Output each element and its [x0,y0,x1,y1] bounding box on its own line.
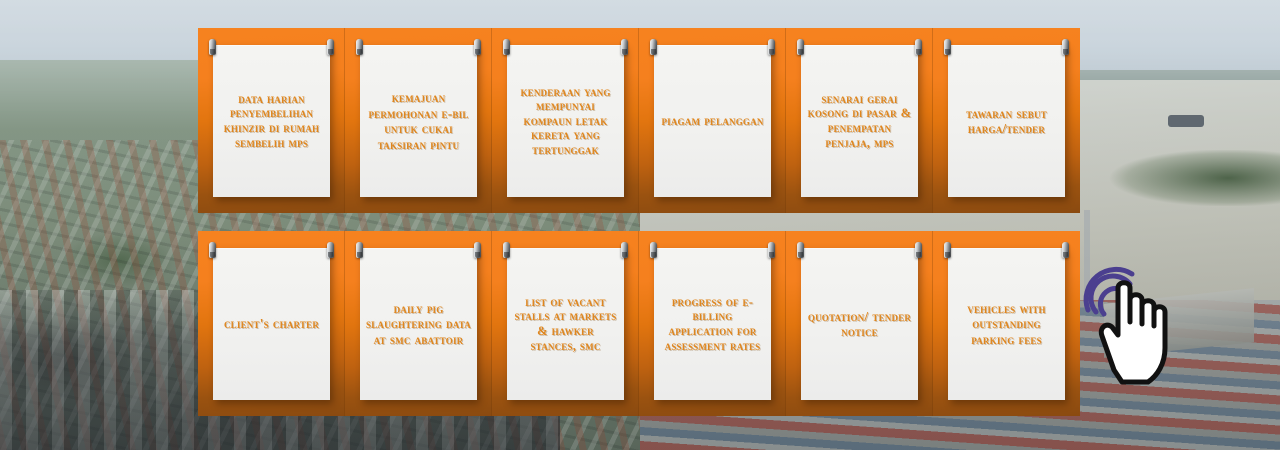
paper-clip-icon-left [356,242,363,258]
service-tile-vehicles-outstanding-parking-fees[interactable]: Vehicles With Outstanding Parking Fees [933,231,1080,416]
service-tile-data-harian-penyembelihan[interactable]: Data Harian Penyembelihan Khinzir Di Rum… [198,28,345,213]
service-tile-clients-charter[interactable]: Client's Charter [198,231,345,416]
service-tile-kenderaan-kompaun-letak-kereta[interactable]: Kenderaan Yang Mempunyai Kompaun Letak K… [492,28,639,213]
service-tile-senarai-gerai-kosong[interactable]: Senarai Gerai Kosong di Pasar & Penempat… [786,28,933,213]
service-tile-list-of-vacant-stalls[interactable]: List Of Vacant Stalls At Markets & Hawke… [492,231,639,416]
paper-clip-icon-right [621,39,628,55]
paper-clip-icon-left [503,242,510,258]
paper-clip-icon-right [327,242,334,258]
paper-clip-icon-left [503,39,510,55]
service-tile-quotation-tender-notice[interactable]: Quotation/ Tender Notice [786,231,933,416]
paper-clip-icon-right [327,39,334,55]
paper-clip-icon-right [915,242,922,258]
tile-paper-card[interactable]: Client's Charter [213,248,330,400]
background-crane [1084,210,1090,290]
tile-paper-card[interactable]: Daily Pig Slaughtering Data At SMC Abatt… [360,248,477,400]
paper-clip-icon-right [1062,39,1069,55]
service-tile-daily-pig-slaughtering-data[interactable]: Daily Pig Slaughtering Data At SMC Abatt… [345,231,492,416]
service-tile-piagam-pelanggan[interactable]: Piagam Pelanggan [639,28,786,213]
service-tile-tawaran-sebut-harga-tender[interactable]: Tawaran Sebut Harga/Tender [933,28,1080,213]
tile-paper-card[interactable]: Progress Of e-Billing Application For As… [654,248,771,400]
paper-clip-icon-left [209,39,216,55]
paper-clip-icon-right [621,242,628,258]
tile-paper-card[interactable]: Quotation/ Tender Notice [801,248,918,400]
tile-paper-card[interactable]: Senarai Gerai Kosong di Pasar & Penempat… [801,45,918,197]
tile-label: Progress Of e-Billing Application For As… [660,295,765,353]
paper-clip-icon-right [915,39,922,55]
tile-paper-card[interactable]: Kenderaan Yang Mempunyai Kompaun Letak K… [507,45,624,197]
background-headland [1078,150,1280,206]
paper-clip-icon-left [650,242,657,258]
paper-clip-icon-left [944,242,951,258]
paper-clip-icon-left [356,39,363,55]
tile-label: Senarai Gerai Kosong di Pasar & Penempat… [807,92,912,150]
tile-label: List Of Vacant Stalls At Markets & Hawke… [513,295,618,353]
tile-label: Client's Charter [224,316,319,332]
paper-clip-icon-left [209,242,216,258]
tile-paper-card[interactable]: Kemajuan Permohonan e-Bil Untuk Cukai Ta… [360,45,477,197]
tile-label: Kemajuan Permohonan e-Bil Untuk Cukai Ta… [366,90,471,152]
service-tile-progress-e-billing-assessment[interactable]: Progress Of e-Billing Application For As… [639,231,786,416]
tile-paper-card[interactable]: List Of Vacant Stalls At Markets & Hawke… [507,248,624,400]
tile-label: Piagam Pelanggan [661,113,763,129]
tile-label: Daily Pig Slaughtering Data At SMC Abatt… [366,301,471,348]
background-barge [1168,115,1204,127]
tile-paper-card[interactable]: Piagam Pelanggan [654,45,771,197]
tile-paper-card[interactable]: Tawaran Sebut Harga/Tender [948,45,1065,197]
service-tile-grid: Data Harian Penyembelihan Khinzir Di Rum… [198,28,1080,416]
screenshot-stage: Data Harian Penyembelihan Khinzir Di Rum… [0,0,1280,450]
service-tile-kemajuan-permohonan-e-bil[interactable]: Kemajuan Permohonan e-Bil Untuk Cukai Ta… [345,28,492,213]
paper-clip-icon-right [768,242,775,258]
paper-clip-icon-left [650,39,657,55]
tile-label: Quotation/ Tender Notice [807,309,912,340]
paper-clip-icon-left [797,39,804,55]
tile-label: Tawaran Sebut Harga/Tender [954,106,1059,137]
paper-clip-icon-left [944,39,951,55]
tile-label: Vehicles With Outstanding Parking Fees [954,301,1059,348]
tile-paper-card[interactable]: Vehicles With Outstanding Parking Fees [948,248,1065,400]
paper-clip-icon-right [474,242,481,258]
tile-label: Data Harian Penyembelihan Khinzir Di Rum… [219,92,324,150]
tile-label: Kenderaan Yang Mempunyai Kompaun Letak K… [513,85,618,158]
paper-clip-icon-right [474,39,481,55]
paper-clip-icon-left [797,242,804,258]
paper-clip-icon-right [1062,242,1069,258]
tile-paper-card[interactable]: Data Harian Penyembelihan Khinzir Di Rum… [213,45,330,197]
paper-clip-icon-right [768,39,775,55]
